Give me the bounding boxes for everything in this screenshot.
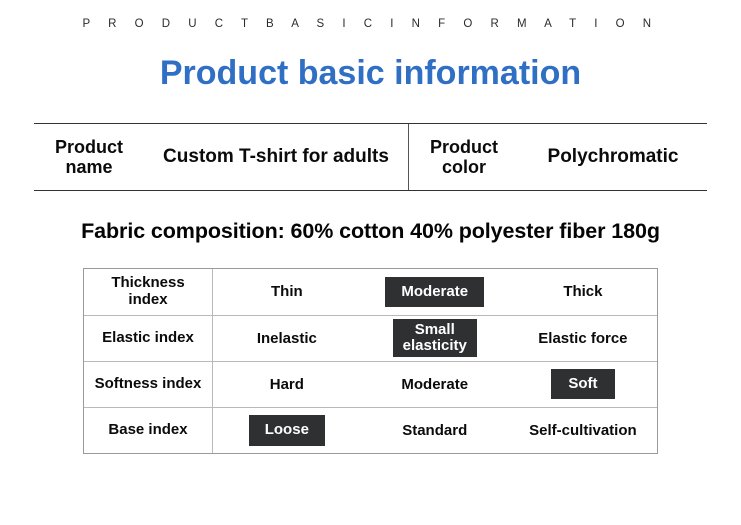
product-color-label-line1: Product — [430, 137, 498, 157]
product-color-label: Product color — [430, 137, 498, 177]
table-row: Thickness index Thin Moderate Thick — [84, 269, 657, 315]
product-color-value-cell: Polychromatic — [519, 124, 707, 190]
selected-chip[interactable]: Loose — [249, 415, 325, 446]
product-name-label: Product name — [55, 137, 123, 177]
fabric-composition: Fabric composition: 60% cotton 40% polye… — [0, 219, 741, 244]
index-table-body: Thickness index Thin Moderate Thick Elas… — [84, 269, 657, 453]
option-base-standard[interactable]: Standard — [361, 407, 509, 453]
row-label-line1: Base index — [84, 422, 212, 439]
row-label-base-index: Base index — [84, 407, 213, 453]
option-base-loose[interactable]: Loose — [213, 407, 361, 453]
option-elastic-elastic-force[interactable]: Elastic force — [509, 315, 657, 361]
table-row: Base index Loose Standard Self-cultivati… — [84, 407, 657, 453]
option-base-self-cultivation[interactable]: Self-cultivation — [509, 407, 657, 453]
index-table-wrapper: Thickness index Thin Moderate Thick Elas… — [83, 268, 658, 454]
row-label-elastic-index: Elastic index — [84, 315, 213, 361]
option-thickness-thin[interactable]: Thin — [213, 269, 361, 315]
basic-info-block: Product name Custom T-shirt for adults P… — [34, 123, 707, 191]
row-label-softness-index: Softness index — [84, 361, 213, 407]
option-softness-soft[interactable]: Soft — [509, 361, 657, 407]
product-name-label-line1: Product — [55, 137, 123, 157]
product-name-value: Custom T-shirt for adults — [163, 146, 389, 168]
product-name-label-cell: Product name — [34, 124, 144, 190]
page-title: Product basic information — [0, 54, 741, 93]
selected-chip[interactable]: Small elasticity — [393, 319, 477, 357]
basic-info-row: Product name Custom T-shirt for adults P… — [34, 124, 707, 190]
selected-chip[interactable]: Soft — [551, 369, 615, 400]
product-color-value: Polychromatic — [548, 146, 679, 168]
option-softness-hard[interactable]: Hard — [213, 361, 361, 407]
option-elastic-small-elasticity[interactable]: Small elasticity — [361, 315, 509, 361]
row-label-line1: Elastic index — [84, 330, 212, 347]
option-elastic-inelastic[interactable]: Inelastic — [213, 315, 361, 361]
option-thickness-thick[interactable]: Thick — [509, 269, 657, 315]
page-kicker: P R O D U C T B A S I C I N F O R M A T … — [0, 0, 741, 30]
row-label-thickness-index: Thickness index — [84, 269, 213, 315]
product-color-label-line2: color — [430, 157, 498, 177]
product-color-label-cell: Product color — [409, 124, 519, 190]
product-name-value-cell: Custom T-shirt for adults — [144, 124, 409, 190]
product-name-label-line2: name — [55, 157, 123, 177]
product-info-page: P R O D U C T B A S I C I N F O R M A T … — [0, 0, 741, 525]
selected-chip-line1: Small — [415, 321, 455, 338]
row-label-line1: Thickness — [84, 275, 212, 292]
table-row: Softness index Hard Moderate Soft — [84, 361, 657, 407]
option-softness-moderate[interactable]: Moderate — [361, 361, 509, 407]
index-table: Thickness index Thin Moderate Thick Elas… — [84, 269, 657, 453]
row-label-line2: index — [84, 292, 212, 309]
row-label-line1: Softness index — [84, 376, 212, 393]
option-thickness-moderate[interactable]: Moderate — [361, 269, 509, 315]
selected-chip-line2: elasticity — [403, 337, 467, 354]
table-row: Elastic index Inelastic Small elasticity… — [84, 315, 657, 361]
selected-chip[interactable]: Moderate — [385, 277, 484, 308]
